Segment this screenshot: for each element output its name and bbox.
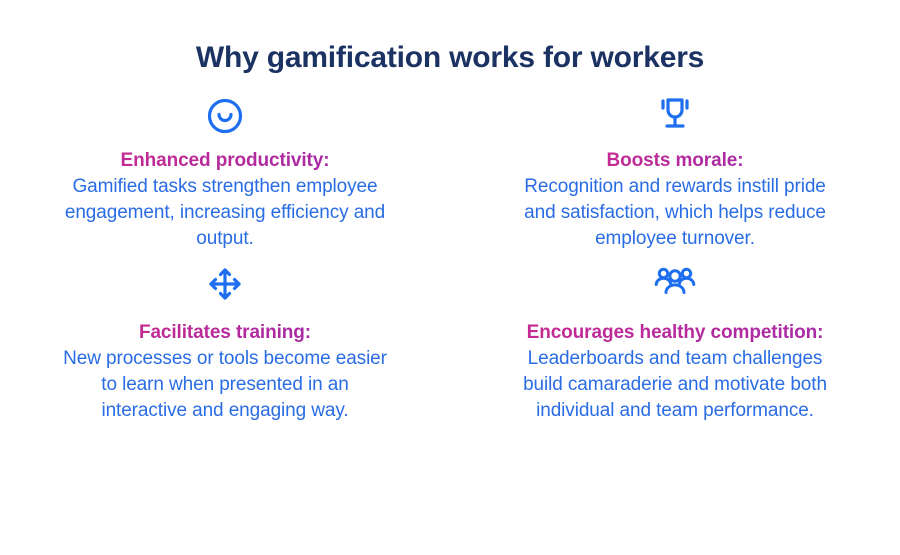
benefits-grid: Enhanced productivity: Gamified tasks st… <box>0 94 900 424</box>
benefit-card-heading: Encourages healthy competition: <box>527 322 824 343</box>
people-group-icon <box>653 262 697 306</box>
trophy-icon <box>655 94 695 138</box>
benefit-card-boosts-morale: Boosts morale: Recognition and rewards i… <box>450 94 900 252</box>
benefit-card-body: Leaderboards and team challenges build c… <box>510 346 840 424</box>
benefit-card-enhanced-productivity: Enhanced productivity: Gamified tasks st… <box>0 94 450 252</box>
benefit-card-facilitates-training: Facilitates training: New processes or t… <box>0 262 450 424</box>
benefit-card-encourages-healthy-competition: Encourages healthy competition: Leaderbo… <box>450 262 900 424</box>
benefit-card-text: Facilitates training: New processes or t… <box>60 320 390 424</box>
benefit-card-text: Enhanced productivity: Gamified tasks st… <box>60 148 390 252</box>
benefit-card-body: Gamified tasks strengthen employee engag… <box>60 174 390 252</box>
benefit-card-text: Encourages healthy competition: Leaderbo… <box>510 320 840 424</box>
smiley-face-icon <box>205 94 245 138</box>
benefit-card-body: Recognition and rewards instill pride an… <box>510 174 840 252</box>
benefit-card-heading: Enhanced productivity: <box>121 150 330 171</box>
benefit-card-heading: Facilitates training: <box>139 322 311 343</box>
benefit-card-body: New processes or tools become easier to … <box>60 346 390 424</box>
benefit-card-heading: Boosts morale: <box>607 150 744 171</box>
benefit-card-text: Boosts morale: Recognition and rewards i… <box>510 148 840 252</box>
infographic-root: Why gamification works for workers Enhan… <box>0 0 900 555</box>
move-arrows-icon <box>205 262 245 306</box>
page-title: Why gamification works for workers <box>196 0 704 76</box>
